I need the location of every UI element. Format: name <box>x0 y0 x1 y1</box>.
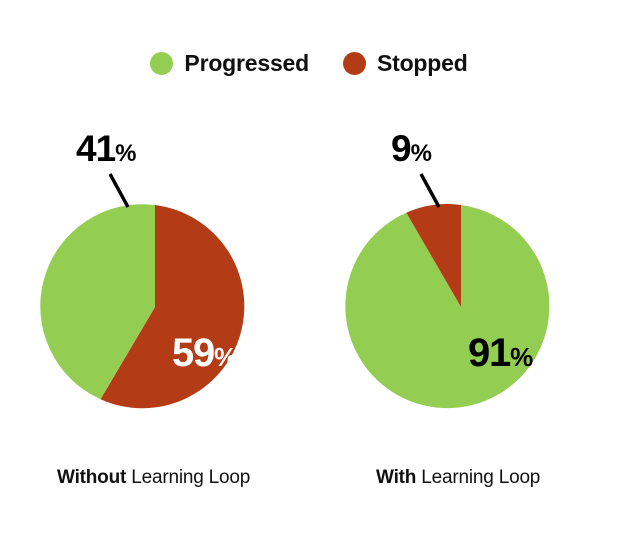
pie-callout-value-without: 41 <box>76 128 115 169</box>
chart-caption-with-strong: With <box>376 467 416 488</box>
pie-callout-percent-with: % <box>411 140 432 167</box>
chart-caption-with: With Learning Loop <box>376 468 540 487</box>
chart-card: Progressed Stopped <box>0 0 618 549</box>
pie-callout-value-with: 9 <box>391 128 411 169</box>
pie-inside-value-with: 91 <box>468 331 510 375</box>
chart-caption-without-strong: Without <box>57 467 126 488</box>
pie-inside-value-without: 59 <box>172 331 214 375</box>
chart-caption-without: Without Learning Loop <box>57 468 250 487</box>
charts-container: 41% 9% 59% 91% Without Learning Loop Wit… <box>0 0 618 549</box>
pie-callout-label-without: 41% <box>76 130 136 167</box>
callout-leader-line-without <box>110 174 128 207</box>
pie-callout-label-with: 9% <box>391 130 431 167</box>
callout-leader-line-with <box>421 174 439 207</box>
pie-inside-percent-without: % <box>214 342 237 372</box>
chart-caption-without-rest: Learning Loop <box>131 467 250 488</box>
pie-inside-label-without: 59% <box>172 333 237 373</box>
pie-inside-label-with: 91% <box>468 333 533 373</box>
chart-caption-with-rest: Learning Loop <box>421 467 540 488</box>
pie-callout-percent-without: % <box>115 140 136 167</box>
pie-inside-percent-with: % <box>510 342 533 372</box>
